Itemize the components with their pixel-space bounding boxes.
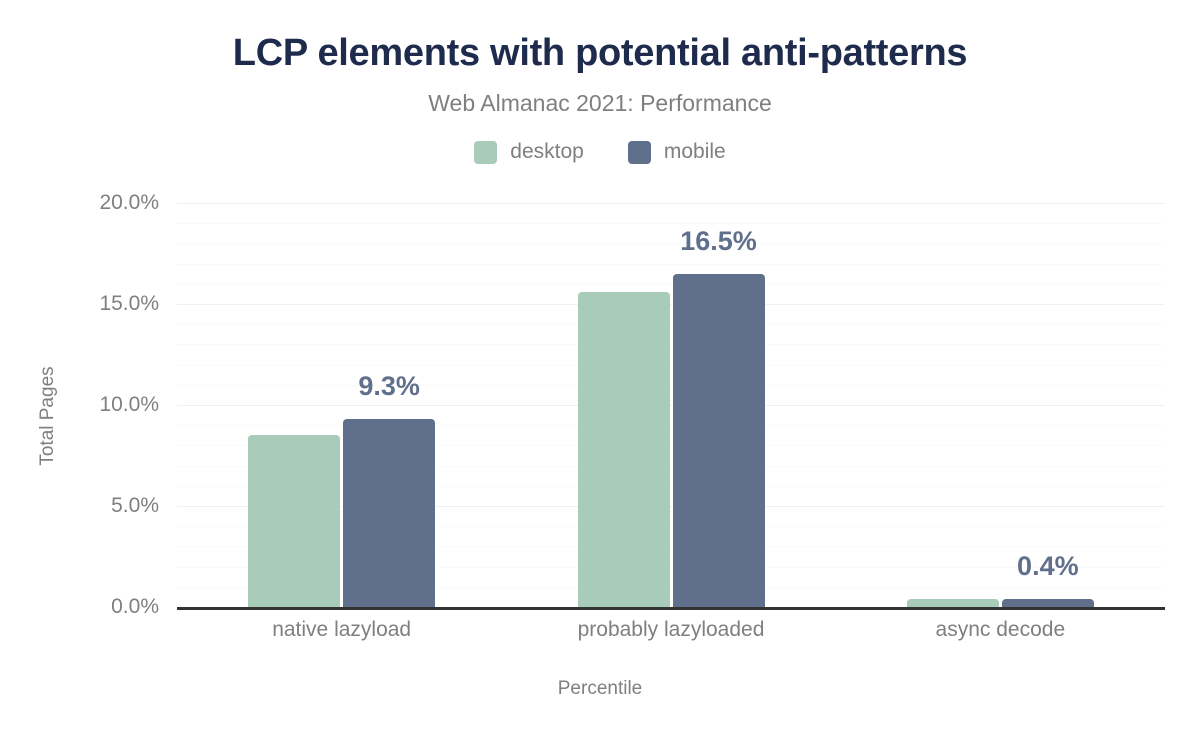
y-axis-tick-label: 5.0% xyxy=(1,494,159,518)
legend-item-mobile[interactable]: mobile xyxy=(628,140,726,164)
legend-swatch-mobile xyxy=(628,141,651,164)
gridline-minor xyxy=(177,223,1165,224)
bar-desktop[interactable] xyxy=(907,599,999,607)
chart-legend: desktop mobile xyxy=(0,140,1200,164)
y-axis-tick-label: 15.0% xyxy=(1,292,159,316)
x-axis-tick-label: native lazyload xyxy=(272,618,411,642)
bar-desktop[interactable] xyxy=(248,435,340,607)
chart-title: LCP elements with potential anti-pattern… xyxy=(0,32,1200,75)
gridline-minor xyxy=(177,243,1165,244)
x-axis-line xyxy=(177,607,1165,610)
legend-label-mobile: mobile xyxy=(664,140,726,164)
gridline-major xyxy=(177,203,1165,204)
bar-mobile[interactable] xyxy=(673,274,765,607)
bar-value-label: 16.5% xyxy=(680,226,757,257)
gridline-minor xyxy=(177,344,1165,345)
legend-label-desktop: desktop xyxy=(510,140,584,164)
y-axis-tick-label: 0.0% xyxy=(1,595,159,619)
bar-value-label: 0.4% xyxy=(1017,551,1079,582)
chart-subtitle: Web Almanac 2021: Performance xyxy=(0,90,1200,117)
x-axis-tick-label: async decode xyxy=(936,618,1066,642)
gridline-major xyxy=(177,405,1165,406)
bar-mobile[interactable] xyxy=(1002,599,1094,607)
x-axis-title: Percentile xyxy=(0,678,1200,700)
bar-desktop[interactable] xyxy=(578,292,670,607)
y-axis-tick-label: 10.0% xyxy=(1,393,159,417)
legend-item-desktop[interactable]: desktop xyxy=(474,140,584,164)
x-axis-tick-label: probably lazyloaded xyxy=(578,618,765,642)
chart-figure: LCP elements with potential anti-pattern… xyxy=(0,0,1200,742)
bar-mobile[interactable] xyxy=(343,419,435,607)
gridline-minor xyxy=(177,385,1165,386)
plot-area xyxy=(177,203,1165,607)
legend-swatch-desktop xyxy=(474,141,497,164)
gridline-major xyxy=(177,304,1165,305)
gridline-minor xyxy=(177,324,1165,325)
gridline-minor xyxy=(177,264,1165,265)
gridline-minor xyxy=(177,425,1165,426)
gridline-minor xyxy=(177,284,1165,285)
y-axis-tick-label: 20.0% xyxy=(1,191,159,215)
bar-value-label: 9.3% xyxy=(358,371,420,402)
gridline-minor xyxy=(177,365,1165,366)
